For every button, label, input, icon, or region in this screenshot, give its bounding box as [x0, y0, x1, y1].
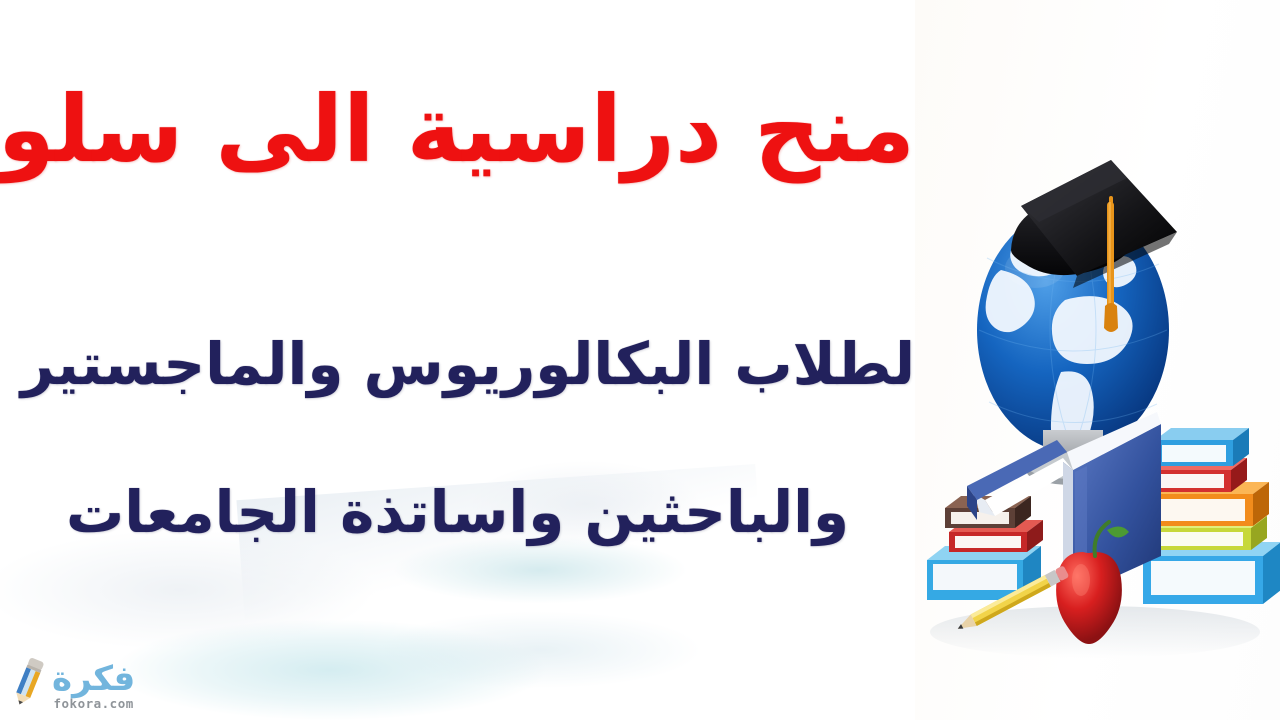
subtitle-line-1: لطلاب البكالوريوس والماجستير والدكتوراة: [0, 330, 915, 398]
brand-name-arabic: فكرة: [52, 662, 135, 696]
pencil-icon: [8, 656, 48, 708]
brand-domain: fokora.com: [54, 698, 134, 711]
brand-logo[interactable]: فكرة fokora.com: [8, 656, 135, 710]
subtitle-line-2: والباحثين واساتذة الجامعات: [0, 478, 915, 546]
poster-canvas: منح دراسية الى سلوفاكيا - أوروبا لطلاب ا…: [0, 0, 1280, 720]
brand-wordmark: فكرة fokora.com: [52, 662, 135, 711]
illustration-svg: [915, 0, 1280, 720]
text-block: منح دراسية الى سلوفاكيا - أوروبا لطلاب ا…: [0, 0, 915, 720]
page-title: منح دراسية الى سلوفاكيا - أوروبا: [0, 78, 915, 181]
graduation-globe-books-illustration: [915, 0, 1280, 720]
